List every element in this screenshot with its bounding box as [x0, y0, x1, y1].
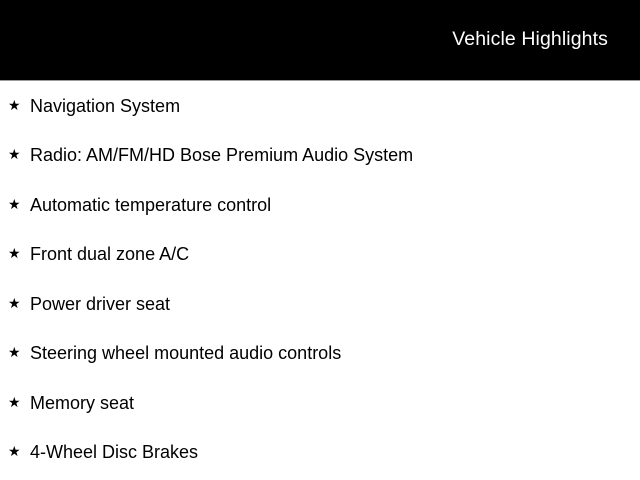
vehicle-highlights-page: Vehicle Highlights ★ Navigation System ★… — [0, 0, 640, 480]
list-item: ★ Steering wheel mounted audio controls — [0, 329, 640, 379]
star-icon: ★ — [8, 296, 30, 310]
star-icon: ★ — [8, 98, 30, 112]
highlight-label: Radio: AM/FM/HD Bose Premium Audio Syste… — [30, 146, 640, 164]
list-item: ★ Navigation System — [0, 81, 640, 131]
highlight-label: Power driver seat — [30, 295, 640, 313]
highlight-label: Steering wheel mounted audio controls — [30, 344, 640, 362]
highlight-label: Navigation System — [30, 97, 640, 115]
star-icon: ★ — [8, 147, 30, 161]
star-icon: ★ — [8, 246, 30, 260]
list-item: ★ Radio: AM/FM/HD Bose Premium Audio Sys… — [0, 131, 640, 181]
star-icon: ★ — [8, 345, 30, 359]
list-item: ★ Memory seat — [0, 378, 640, 428]
star-icon: ★ — [8, 444, 30, 458]
list-item: ★ 4-Wheel Disc Brakes — [0, 428, 640, 478]
list-item: ★ Power driver seat — [0, 279, 640, 329]
highlight-label: Memory seat — [30, 394, 640, 412]
vehicle-highlights-list: ★ Navigation System ★ Radio: AM/FM/HD Bo… — [0, 81, 640, 477]
list-item: ★ Automatic temperature control — [0, 180, 640, 230]
star-icon: ★ — [8, 197, 30, 211]
highlight-label: Automatic temperature control — [30, 196, 640, 214]
page-title: Vehicle Highlights — [452, 30, 608, 50]
highlight-label: 4-Wheel Disc Brakes — [30, 443, 640, 461]
header-band: Vehicle Highlights — [0, 0, 640, 80]
star-icon: ★ — [8, 395, 30, 409]
highlight-label: Front dual zone A/C — [30, 245, 640, 263]
list-item: ★ Front dual zone A/C — [0, 230, 640, 280]
